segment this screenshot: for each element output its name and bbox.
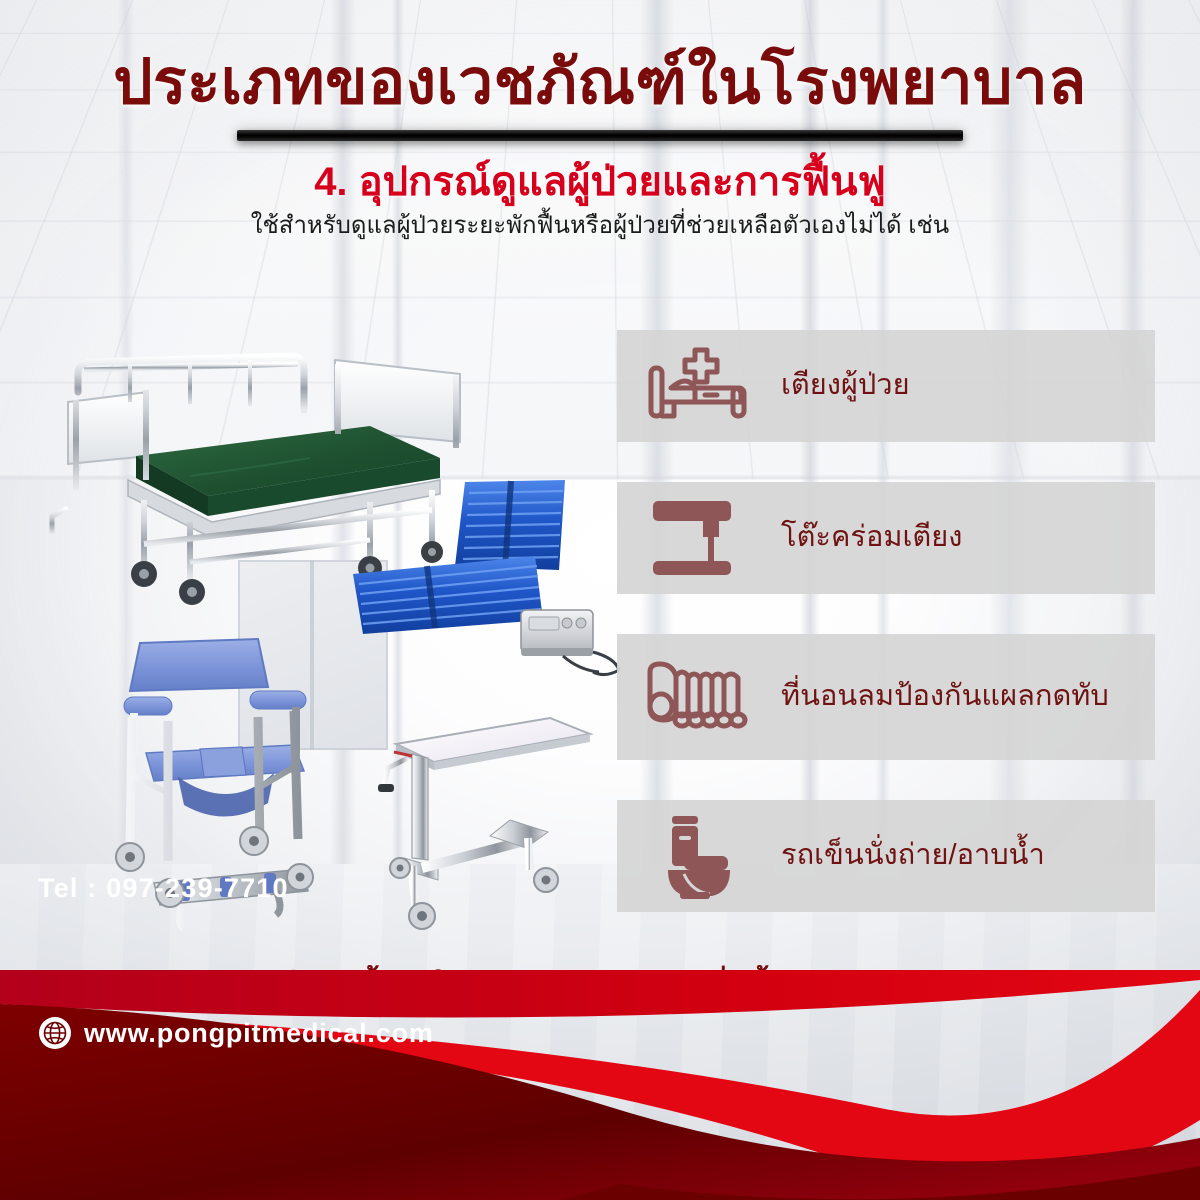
website-url: www.pongpitmedical.com	[84, 1018, 434, 1049]
title-divider-wrap	[0, 130, 1200, 141]
feature-label: ที่นอนลมป้องกันแผลกดทับ	[763, 678, 1109, 715]
globe-icon	[38, 918, 72, 1148]
title-divider	[237, 130, 963, 141]
feature-row[interactable]: เตียงผู้ป่วย	[617, 330, 1155, 442]
overbed-table-icon	[631, 495, 763, 581]
website-line[interactable]: www.pongpitmedical.com	[38, 918, 434, 1148]
feature-row[interactable]: รถเข็นนั่งถ่าย/อาบน้ำ	[617, 800, 1155, 912]
feature-label: เตียงผู้ป่วย	[763, 367, 910, 404]
header: ประเภทของเวชภัณฑ์ในโรงพยาบาล 4. อุปกรณ์ด…	[0, 0, 1200, 241]
commode-toilet-icon	[631, 812, 763, 900]
feature-label: รถเข็นนั่งถ่าย/อาบน้ำ	[763, 837, 1045, 874]
feature-row[interactable]: ที่นอนลมป้องกันแผลกดทับ	[617, 634, 1155, 760]
hospital-bed-icon	[631, 344, 763, 428]
feature-row[interactable]: โต๊ะคร่อมเตียง	[617, 482, 1155, 594]
feature-label: โต๊ะคร่อมเตียง	[763, 519, 962, 556]
section-subtitle: 4. อุปกรณ์ดูแลผู้ป่วยและการฟื้นฟู	[0, 161, 1200, 204]
feature-list: เตียงผู้ป่วย โต๊ะคร่อมเตียง	[617, 330, 1155, 952]
footer: Tel : 097-239-7710 www.pongpitmedical.co…	[0, 970, 1200, 1200]
infographic-poster: ประเภทของเวชภัณฑ์ในโรงพยาบาล 4. อุปกรณ์ด…	[0, 0, 1200, 1200]
page-title: ประเภทของเวชภัณฑ์ในโรงพยาบาล	[0, 0, 1200, 114]
footer-contact: Tel : 097-239-7710 www.pongpitmedical.co…	[38, 873, 434, 1148]
phone-number[interactable]: Tel : 097-239-7710	[38, 873, 434, 904]
air-mattress-icon	[631, 658, 763, 736]
section-description: ใช้สำหรับดูแลผู้ป่วยระยะพักฟื้นหรือผู้ป่…	[0, 212, 1200, 241]
